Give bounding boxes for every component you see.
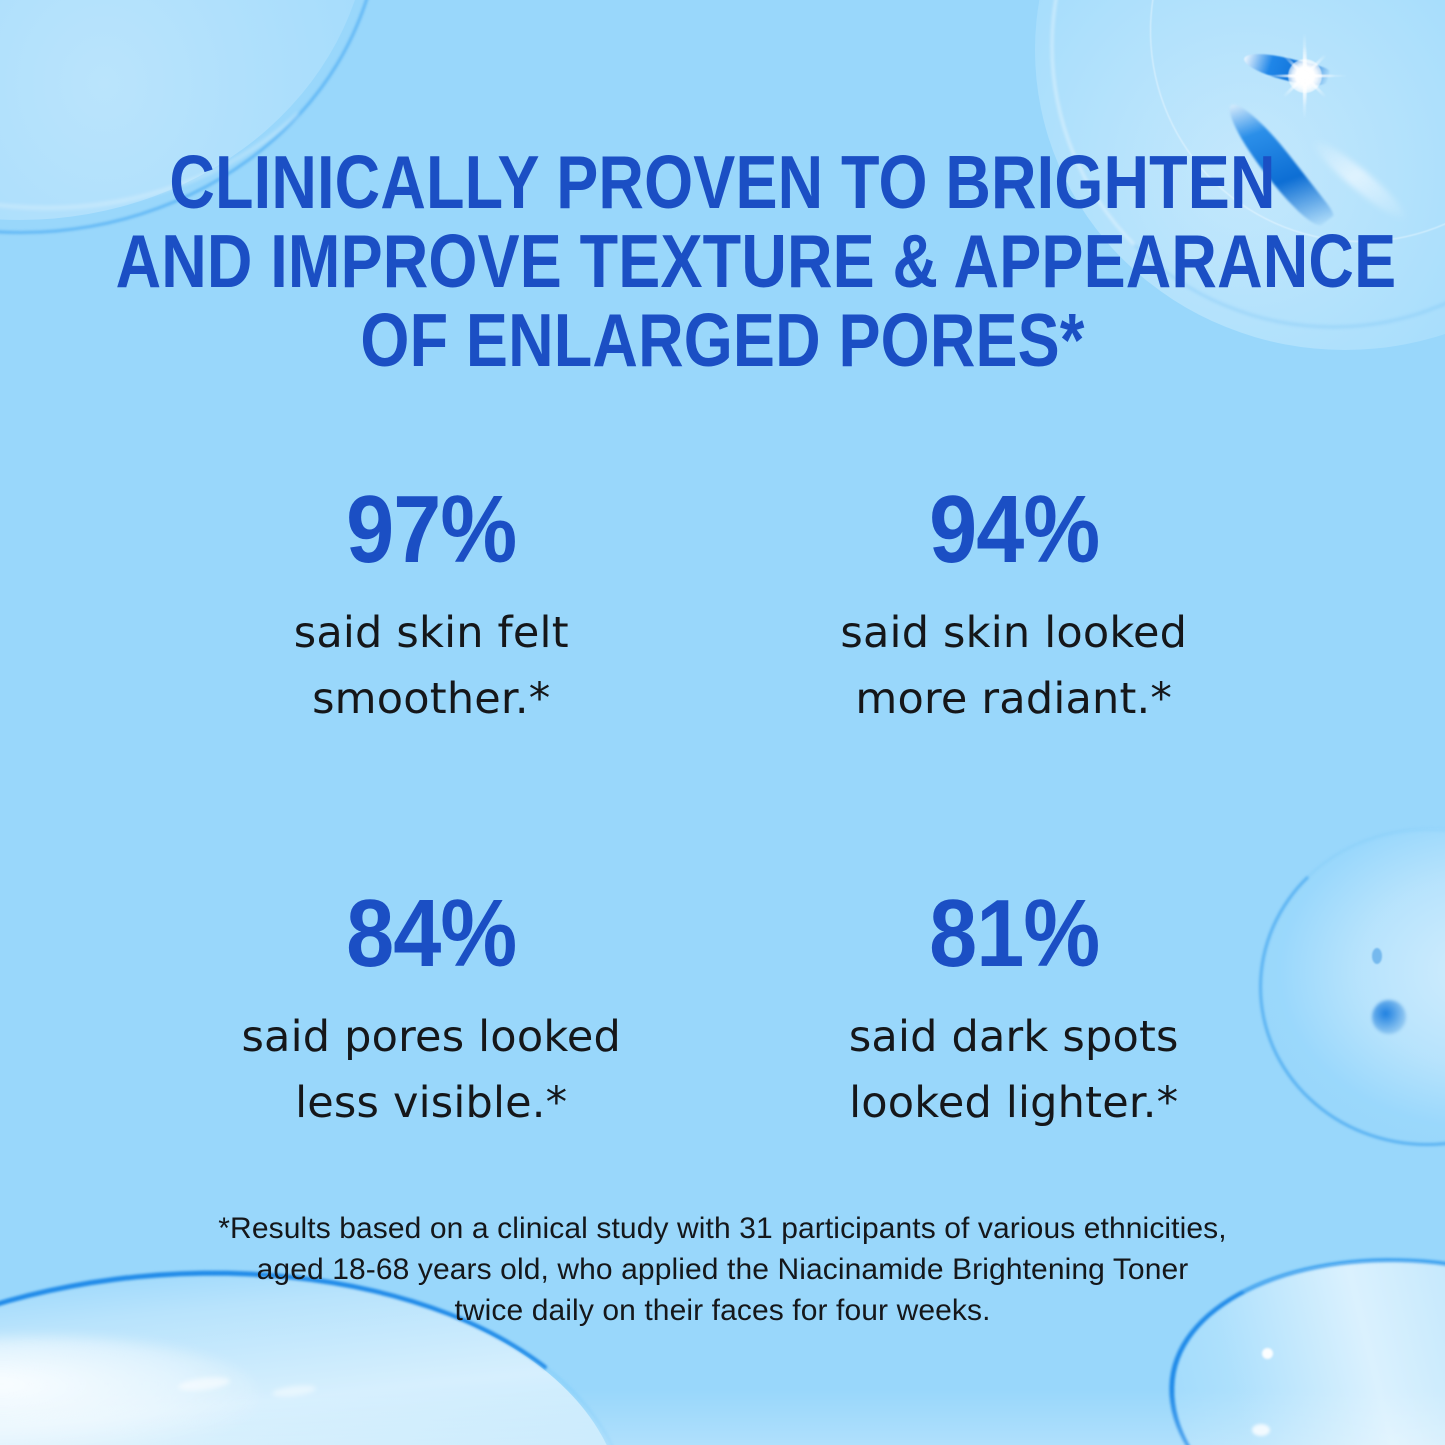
stat-description-line-1: said skin felt (140, 600, 723, 666)
stat-description: said skin looked more radiant.* (723, 600, 1306, 732)
stat-block-skin-radiant: 94% said skin looked more radiant.* (723, 480, 1306, 732)
stat-description: said dark spots looked lighter.* (723, 1004, 1306, 1136)
disclaimer-line-2: aged 18-68 years old, who applied the Ni… (0, 1249, 1445, 1290)
stat-description-line-2: less visible.* (140, 1070, 723, 1136)
product-claims-infographic: CLINICALLY PROVEN TO BRIGHTEN AND IMPROV… (0, 0, 1445, 1445)
headline-line-2: AND IMPROVE TEXTURE & APPEARANCE (116, 222, 1330, 301)
study-disclaimer: *Results based on a clinical study with … (0, 1208, 1445, 1331)
stat-block-pores-less-visible: 84% said pores looked less visible.* (140, 884, 723, 1136)
stat-description-line-2: more radiant.* (723, 666, 1306, 732)
stat-percentage: 84% (169, 884, 693, 984)
disclaimer-line-1: *Results based on a clinical study with … (0, 1208, 1445, 1249)
stat-percentage: 94% (752, 480, 1276, 580)
stat-block-dark-spots-lighter: 81% said dark spots looked lighter.* (723, 884, 1306, 1136)
headline-line-1: CLINICALLY PROVEN TO BRIGHTEN (116, 143, 1330, 222)
stat-description-line-2: smoother.* (140, 666, 723, 732)
page-title: CLINICALLY PROVEN TO BRIGHTEN AND IMPROV… (116, 143, 1330, 380)
stat-description: said pores looked less visible.* (140, 1004, 723, 1136)
headline-line-3: OF ENLARGED PORES* (116, 301, 1330, 380)
stat-description-line-1: said pores looked (140, 1004, 723, 1070)
stat-description-line-2: looked lighter.* (723, 1070, 1306, 1136)
stat-description-line-1: said skin looked (723, 600, 1306, 666)
disclaimer-line-3: twice daily on their faces for four week… (0, 1290, 1445, 1331)
stat-description-line-1: said dark spots (723, 1004, 1306, 1070)
infographic-content: CLINICALLY PROVEN TO BRIGHTEN AND IMPROV… (0, 0, 1445, 1445)
statistics-grid: 97% said skin felt smoother.* 94% said s… (140, 480, 1305, 1136)
stat-description: said skin felt smoother.* (140, 600, 723, 732)
stat-block-skin-smoother: 97% said skin felt smoother.* (140, 480, 723, 732)
stat-percentage: 81% (752, 884, 1276, 984)
stat-percentage: 97% (169, 480, 693, 580)
